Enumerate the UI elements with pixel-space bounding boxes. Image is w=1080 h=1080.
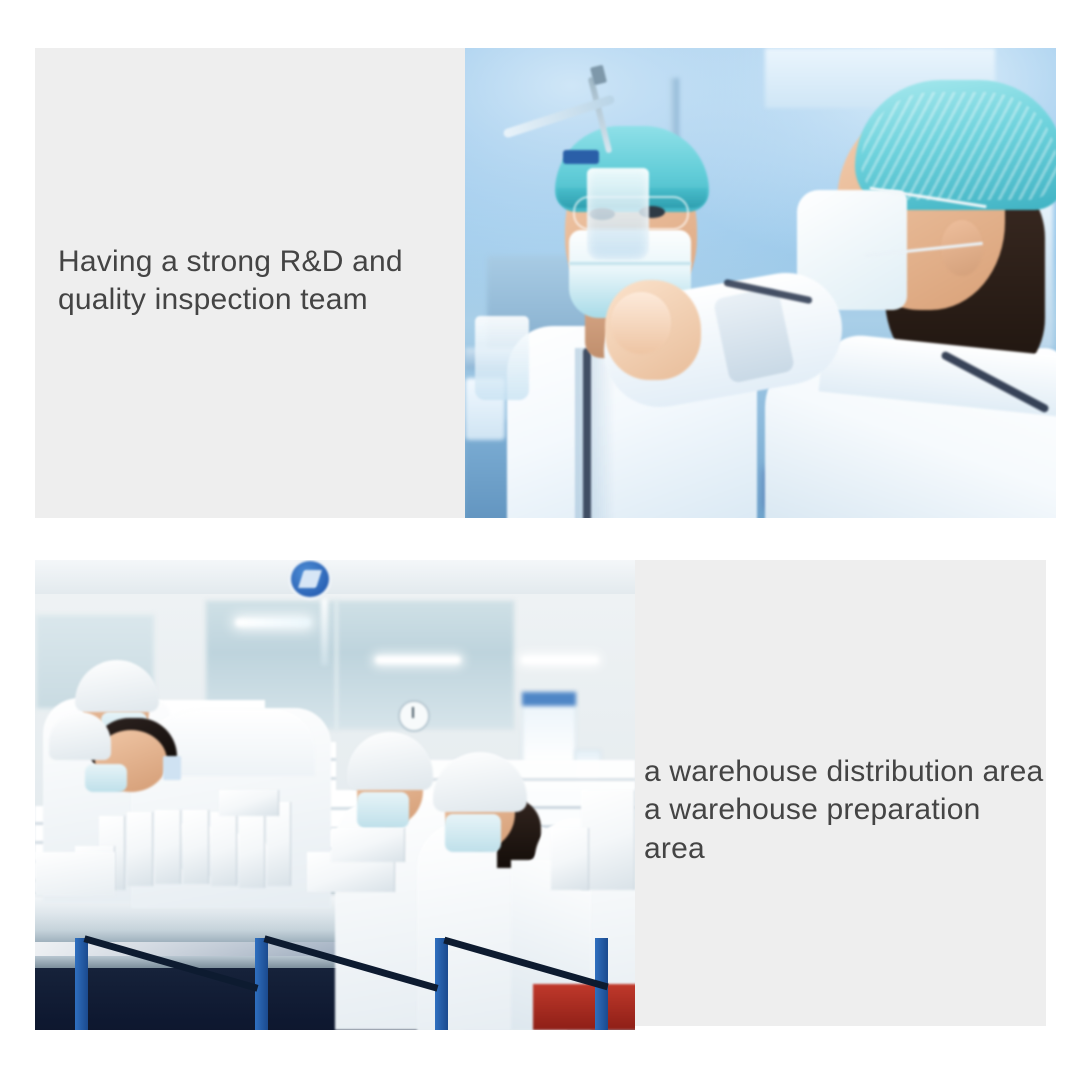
warehouse-red-bin [533,984,635,1030]
lab-bottle-cap [563,150,599,164]
warehouse-worker3-mask [357,792,409,828]
warehouse-light-3 [521,656,599,664]
lab-beaker [587,168,649,260]
warehouse-caption: a warehouse distribution area a warehous… [644,753,1044,868]
table-leg-1 [75,938,88,1030]
rd-quality-caption: Having a strong R&D and quality inspecti… [58,243,450,320]
lab-worker2-hairnet-texture [861,92,1056,200]
wall-clock-hand [412,707,414,718]
product-carton [155,810,181,884]
product-carton [127,812,153,886]
warehouse-ceiling [35,560,635,594]
rd-lab-photo [465,48,1056,518]
lab-beaker-secondary [475,316,529,400]
warehouse-worker2-badge [163,756,181,780]
wall-clock-icon [398,700,430,732]
warehouse-worker4-mask [445,814,501,852]
warehouse-worker2-mask [85,764,127,792]
product-carton-flat [331,828,405,862]
lab-worker1-mask-fold [569,262,691,265]
warehouse-window-mullion [335,600,338,730]
product-carton [211,812,237,886]
wall-notice-header [522,692,576,706]
lab-worker1-navy-trim [583,348,591,518]
page-root: Having a strong R&D and quality inspecti… [0,0,1080,1080]
warehouse-hanging-fixture [321,598,328,666]
product-carton [239,814,265,888]
warehouse-light-2 [375,656,461,664]
product-carton [551,828,589,890]
packing-paper [35,852,115,896]
product-carton-flat [219,790,279,816]
product-carton [581,790,635,890]
lab-worker2-fingers [611,292,671,354]
warehouse-packing-photo [35,560,635,1030]
warehouse-light-1 [235,618,311,627]
product-carton [183,810,209,884]
